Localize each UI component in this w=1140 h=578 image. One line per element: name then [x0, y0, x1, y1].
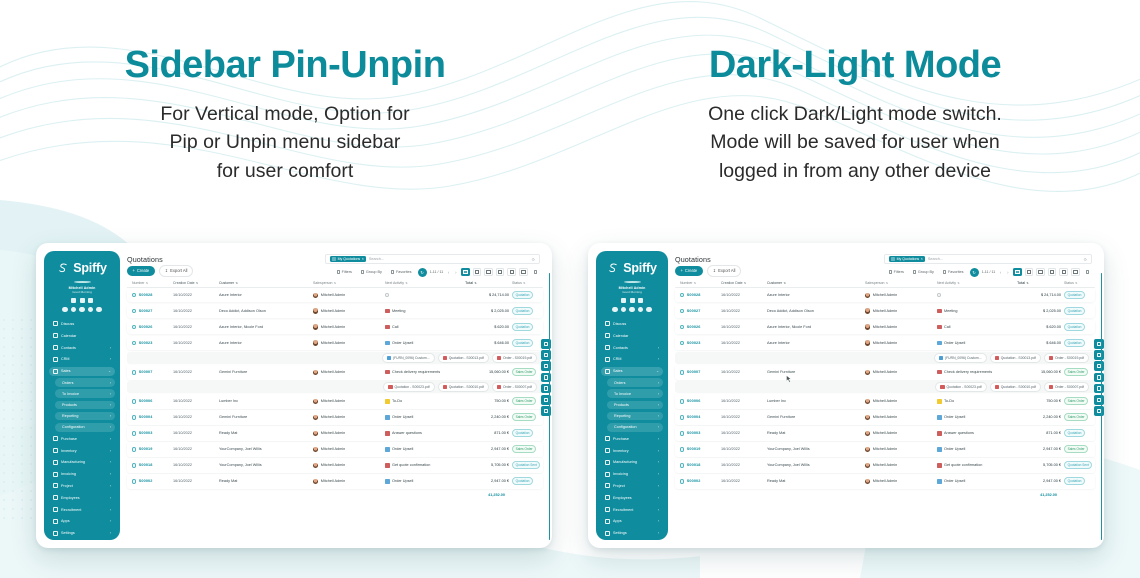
- star-icon: [943, 270, 946, 273]
- record-toggle-icon[interactable]: [680, 309, 684, 313]
- cell-number[interactable]: S00019: [127, 447, 173, 451]
- settings-button[interactable]: [1083, 269, 1092, 276]
- pivot-view-icon[interactable]: [1048, 268, 1057, 277]
- filters-button[interactable]: Filters: [334, 268, 355, 275]
- record-toggle-icon[interactable]: [132, 463, 136, 467]
- sidebar-item-to-invoice[interactable]: To Invoice›: [55, 389, 115, 398]
- group-by-label: Group By: [366, 270, 382, 274]
- search-bar[interactable]: My Quotations× Search... ⚙: [884, 254, 1092, 264]
- record-toggle-icon[interactable]: [680, 370, 684, 374]
- cell-number[interactable]: S00007: [127, 370, 173, 374]
- column-header-customer[interactable]: Customer⇅: [767, 281, 865, 285]
- refresh-button[interactable]: ↻: [418, 268, 427, 277]
- link-icon[interactable]: [612, 307, 617, 312]
- table-header: Number⇅ Creation Date⇅ Customer⇅ Salespe…: [127, 279, 543, 288]
- sort-icon: ⇅: [405, 281, 408, 285]
- record-number: S00026: [687, 325, 701, 329]
- kanban-view-icon[interactable]: [473, 268, 482, 277]
- settings-gear-icon[interactable]: [1094, 339, 1104, 349]
- sidebar-item-reporting[interactable]: Reporting›: [55, 412, 115, 421]
- cell-number[interactable]: S00004: [127, 415, 173, 419]
- sidebar-item-project[interactable]: Project›: [601, 481, 663, 490]
- attachment-chip[interactable]: Order - S00019.pdf: [492, 353, 537, 363]
- attachment-chip[interactable]: Quotation - S00010.pdf: [990, 382, 1041, 392]
- record-toggle-icon[interactable]: [132, 399, 136, 403]
- check-icon: [385, 370, 390, 374]
- table-row[interactable]: S00028 16/10/2022 Azure Interior Mitchel…: [127, 288, 543, 302]
- cell-number[interactable]: S00027: [675, 309, 721, 313]
- column-header-creation-date[interactable]: Creation Date⇅: [173, 281, 219, 285]
- record-toggle-icon[interactable]: [132, 447, 136, 451]
- cell-number[interactable]: S00028: [675, 293, 721, 297]
- column-header-status[interactable]: Status⇅: [509, 281, 543, 285]
- search-input[interactable]: Search...: [369, 257, 384, 261]
- table-row[interactable]: S00026 16/10/2022 Azure Interior, Nicole…: [127, 320, 543, 334]
- table-row[interactable]: S00023 16/10/2022 Azure Interior Mitchel…: [127, 336, 543, 350]
- home-icon[interactable]: [630, 298, 635, 303]
- sidebar-item-settings[interactable]: Settings›: [49, 528, 115, 537]
- sidebar-item-label: Settings: [61, 531, 107, 535]
- sidebar-item-discuss[interactable]: Discuss: [601, 319, 663, 328]
- table-row[interactable]: S00002 16/10/2022 Ready Mat Mitchell Adm…: [675, 474, 1095, 488]
- activity-view-icon[interactable]: [1071, 268, 1080, 277]
- sidebar-item-recruitment[interactable]: Recruitment›: [49, 505, 115, 514]
- activity-label: Check delivery requirements: [944, 370, 992, 374]
- cell-number[interactable]: S00023: [675, 341, 721, 345]
- activity-label: Order Upsell: [392, 415, 413, 419]
- table-row[interactable]: S00003 16/10/2022 Ready Mat Mitchell Adm…: [127, 426, 543, 440]
- gear-icon[interactable]: ⚙: [1083, 257, 1087, 262]
- salesperson-avatar: [865, 340, 870, 345]
- salesperson-avatar: [865, 293, 870, 298]
- cell-customer: Deco Addict, Addison Olson: [767, 309, 865, 313]
- flag-icon[interactable]: [79, 307, 84, 312]
- vertical-scrollbar[interactable]: [549, 273, 550, 540]
- cell-number[interactable]: S00018: [127, 463, 173, 467]
- lock-icon[interactable]: [88, 307, 93, 312]
- chevron-right-icon: ›: [658, 437, 659, 441]
- next-page-button[interactable]: ›: [454, 270, 458, 275]
- column-label: Next Activity: [385, 281, 404, 285]
- table-row[interactable]: S00027 16/10/2022 Deco Addict, Addison O…: [675, 304, 1095, 318]
- cell-total: 2,947.00 €: [465, 479, 509, 483]
- page-subtitle-right: One click Dark/Light mode switch. Mode w…: [570, 100, 1140, 186]
- attachment-chip[interactable]: Order - S00019.pdf: [1044, 353, 1089, 363]
- cell-number[interactable]: S00028: [127, 293, 173, 297]
- cell-customer: Gemini Furniture: [767, 415, 865, 419]
- calendar-view-icon[interactable]: [484, 268, 493, 277]
- activity-label: Order Upsell: [392, 447, 413, 451]
- plus-icon: +: [681, 268, 683, 273]
- refresh-button[interactable]: ↻: [970, 268, 979, 277]
- column-header-number[interactable]: Number⇅: [675, 281, 721, 285]
- activity-label: Order Upsell: [944, 447, 965, 451]
- gear-icon[interactable]: ⚙: [531, 257, 535, 262]
- sidebar-item-settings[interactable]: Settings›: [601, 528, 663, 537]
- cell-next-activity: Order Upsell: [937, 479, 1017, 483]
- sidebar-item-calendar[interactable]: Calendar: [601, 331, 663, 340]
- table-row[interactable]: S00027 16/10/2022 Deco Addict, Addison O…: [127, 304, 543, 318]
- close-icon[interactable]: ×: [362, 257, 364, 261]
- app-screenshot-left[interactable]: Spiffy Mitchell Admin Good Morning Discu…: [36, 243, 552, 548]
- sidebar-item-reporting[interactable]: Reporting›: [607, 412, 663, 421]
- sidebar-item-configuration[interactable]: Configuration›: [607, 423, 663, 432]
- cell-salesperson: Mitchell Admin: [865, 340, 937, 345]
- sidebar-item-purchase[interactable]: Purchase›: [601, 434, 663, 443]
- cell-creation-date: 16/10/2022: [721, 479, 767, 483]
- favorites-button[interactable]: Favorites: [940, 268, 967, 275]
- display-icon[interactable]: [1094, 406, 1104, 416]
- cell-number[interactable]: S00006: [127, 399, 173, 403]
- cell-next-activity: Answer questions: [937, 431, 1017, 435]
- palette-icon[interactable]: [1094, 373, 1104, 383]
- record-toggle-icon[interactable]: [680, 341, 684, 345]
- status-badge: Quotation Sent: [1064, 461, 1092, 469]
- record-toggle-icon[interactable]: [132, 370, 136, 374]
- salesperson-name: Mitchell Admin: [321, 415, 345, 419]
- table-row[interactable]: S00026 16/10/2022 Azure Interior, Nicole…: [675, 320, 1095, 334]
- table-row[interactable]: S00018 16/10/2022 YourCompany, Joel Will…: [675, 458, 1095, 472]
- attachment-chip[interactable]: Quotation - S00023.pdf: [383, 382, 434, 392]
- sidebar-item-invoicing[interactable]: Invoicing›: [601, 470, 663, 479]
- calendar-view-icon[interactable]: [1036, 268, 1045, 277]
- record-toggle-icon[interactable]: [680, 447, 684, 451]
- cell-creation-date: 16/10/2022: [173, 309, 219, 313]
- cell-customer: Deco Addict, Addison Olson: [219, 309, 313, 313]
- cell-next-activity: Order Upsell: [937, 447, 1017, 451]
- record-toggle-icon[interactable]: [680, 463, 684, 467]
- columns-icon[interactable]: [1094, 384, 1104, 394]
- cell-number[interactable]: S00004: [675, 415, 721, 419]
- cell-salesperson: Mitchell Admin: [865, 447, 937, 452]
- cell-number[interactable]: S00019: [675, 447, 721, 451]
- graph-view-icon[interactable]: [1059, 268, 1068, 277]
- cell-salesperson: Mitchell Admin: [865, 415, 937, 420]
- cell-number[interactable]: S00023: [127, 341, 173, 345]
- sidebar-item-products[interactable]: Products›: [55, 401, 115, 410]
- avatar[interactable]: [74, 281, 91, 283]
- confirm-icon: [937, 463, 942, 467]
- sidebar-item-invoicing[interactable]: Invoicing›: [49, 470, 115, 479]
- attachment-chip[interactable]: (FURN_0096) Custom...: [382, 353, 435, 363]
- link2-icon[interactable]: [71, 307, 76, 312]
- column-header-next-activity[interactable]: Next Activity⇅: [937, 281, 1017, 285]
- sidebar-item-employees[interactable]: Employees›: [49, 493, 115, 502]
- cell-salesperson: Mitchell Admin: [313, 293, 385, 298]
- group-by-button[interactable]: Group By: [358, 268, 385, 275]
- sidebar-item-contacts[interactable]: Contacts›: [601, 343, 663, 352]
- cell-number[interactable]: S00002: [675, 479, 721, 483]
- group-icon: [913, 270, 916, 273]
- favorites-button[interactable]: Favorites: [388, 268, 415, 275]
- attachment-chip[interactable]: Order - S00007.pdf: [492, 382, 537, 392]
- view-toolbar: Filters Group By Favorites ↻ 1-11 / 11 ‹…: [886, 268, 1092, 277]
- cell-creation-date: 16/10/2022: [721, 415, 767, 419]
- attachment-chip[interactable]: Quotation - S00010.pdf: [438, 382, 489, 392]
- settings-icon: [53, 531, 58, 536]
- next-page-button[interactable]: ›: [1006, 270, 1010, 275]
- record-toggle-icon[interactable]: [132, 431, 136, 435]
- settings-button[interactable]: [531, 269, 540, 276]
- cell-number[interactable]: S00007: [675, 370, 721, 374]
- column-header-salesperson[interactable]: Salesperson⇅: [313, 281, 385, 285]
- cell-number[interactable]: S00006: [675, 399, 721, 403]
- attachment-name: Order - S00007.pdf: [1055, 385, 1084, 389]
- status-badge: Quotation: [1064, 307, 1085, 315]
- record-toggle-icon[interactable]: [132, 293, 136, 297]
- table-row[interactable]: S00023 16/10/2022 Azure Interior Mitchel…: [675, 336, 1095, 350]
- record-number: S00002: [687, 479, 701, 483]
- cell-status: Quotation: [509, 307, 543, 315]
- column-header-salesperson[interactable]: Salesperson⇅: [865, 281, 937, 285]
- column-header-total[interactable]: Total⇅: [465, 281, 509, 285]
- cell-number[interactable]: S00003: [127, 431, 173, 435]
- table-row[interactable]: S00028 16/10/2022 Azure Interior Mitchel…: [675, 288, 1095, 302]
- chevron-right-icon: ›: [658, 449, 659, 453]
- activity-label: Order Upsell: [392, 479, 413, 483]
- sidebar-item-configuration[interactable]: Configuration›: [55, 423, 115, 432]
- record-toggle-icon[interactable]: [680, 399, 684, 403]
- chevron-right-icon: ›: [110, 496, 111, 500]
- search-facet-my-quotations[interactable]: My Quotations×: [330, 256, 366, 263]
- chevron-right-icon: ›: [110, 519, 111, 523]
- sidebar-item-inventory[interactable]: Inventory›: [49, 446, 115, 455]
- main-panel: Quotations +Create ↧Export All My Quotat…: [120, 251, 546, 540]
- theme-icon[interactable]: [1094, 350, 1104, 360]
- cell-total: $ 620.00: [465, 325, 509, 329]
- link-icon[interactable]: [62, 307, 67, 312]
- search-input[interactable]: Search...: [928, 257, 943, 261]
- attachment-name: (FURN_0096) Custom...: [945, 356, 982, 360]
- pin-icon[interactable]: [646, 307, 651, 312]
- cell-number[interactable]: S00003: [675, 431, 721, 435]
- employees-icon: [53, 495, 58, 500]
- record-toggle-icon[interactable]: [132, 325, 136, 329]
- cell-total: 750.00 €: [465, 399, 509, 403]
- record-number: S00007: [687, 370, 701, 374]
- salesperson-name: Mitchell Admin: [321, 399, 345, 403]
- sidebar-item-discuss[interactable]: Discuss: [49, 319, 115, 328]
- sidebar-item-crm[interactable]: CRM›: [49, 355, 115, 364]
- user-name: Mitchell Admin: [49, 286, 115, 290]
- quick-actions-row-1: [49, 298, 115, 303]
- file-icon: [497, 385, 501, 389]
- column-header-total[interactable]: Total⇅: [1017, 281, 1061, 285]
- column-header-customer[interactable]: Customer⇅: [219, 281, 313, 285]
- invoicing-icon: [605, 472, 610, 477]
- cell-status: Sales Order: [1061, 413, 1095, 421]
- chevron-down-icon: ⌄: [108, 369, 111, 373]
- column-label: Salesperson: [865, 281, 884, 285]
- sidebar-item-orders[interactable]: Orders›: [607, 378, 663, 387]
- column-label: Status: [512, 281, 522, 285]
- record-toggle-icon[interactable]: [132, 479, 136, 483]
- cell-number[interactable]: S00026: [127, 325, 173, 329]
- chevron-right-icon: ›: [658, 392, 659, 396]
- app-screenshot-right[interactable]: Spiffy Mitchell Admin Good Morning Discu…: [588, 243, 1104, 548]
- column-header-number[interactable]: Number⇅: [127, 281, 173, 285]
- prev-page-button[interactable]: ‹: [446, 270, 450, 275]
- table-row[interactable]: S00007 16/10/2022 Gemini Furniture Mitch…: [675, 365, 1095, 379]
- sidebar-item-label: Invoicing: [61, 472, 107, 476]
- sidebar-item-purchase[interactable]: Purchase›: [49, 434, 115, 443]
- sidebar: Spiffy Mitchell Admin Good Morning Discu…: [596, 251, 668, 540]
- table-row[interactable]: S00006 16/10/2022 Lumber Inc Mitchell Ad…: [675, 394, 1095, 408]
- phone-icon[interactable]: [71, 298, 76, 303]
- cell-status: Quotation: [1061, 339, 1095, 347]
- record-toggle-icon[interactable]: [680, 415, 684, 419]
- invoicing-icon: [53, 472, 58, 477]
- column-header-creation-date[interactable]: Creation Date⇅: [721, 281, 767, 285]
- cell-number[interactable]: S00002: [127, 479, 173, 483]
- clock-icon: [937, 293, 941, 297]
- sidebar-item-recruitment[interactable]: Recruitment›: [601, 505, 663, 514]
- brand-logo[interactable]: Spiffy: [601, 261, 663, 275]
- sidebar-item-label: Reporting: [611, 414, 655, 418]
- salesperson-avatar: [313, 370, 318, 375]
- brand-logo[interactable]: Spiffy: [49, 261, 115, 275]
- column-header-status[interactable]: Status⇅: [1061, 281, 1095, 285]
- activity-label: Answer questions: [392, 431, 422, 435]
- sidebar-item-manufacturing[interactable]: Manufacturing›: [49, 458, 115, 467]
- attachment-name: Quotation - S00013.pdf: [449, 356, 484, 360]
- pin-icon[interactable]: [96, 307, 101, 312]
- chevron-right-icon: ›: [658, 414, 659, 418]
- chevron-right-icon: ›: [658, 531, 659, 535]
- sidebar-item-manufacturing[interactable]: Manufacturing›: [601, 458, 663, 467]
- cell-next-activity: Order Upsell: [385, 415, 465, 419]
- salesperson-name: Mitchell Admin: [321, 309, 345, 313]
- cell-number[interactable]: S00026: [675, 325, 721, 329]
- table-row[interactable]: S00007 16/10/2022 Gemini Furniture Mitch…: [127, 365, 543, 379]
- export-all-button[interactable]: ↧Export All: [159, 265, 194, 277]
- cell-next-activity: To-Do: [937, 399, 1017, 403]
- record-toggle-icon[interactable]: [680, 479, 684, 483]
- table-row[interactable]: S00004 16/10/2022 Gemini Furniture Mitch…: [127, 410, 543, 424]
- sidebar-item-orders[interactable]: Orders›: [55, 378, 115, 387]
- attachment-chip[interactable]: Order - S00007.pdf: [1044, 382, 1089, 392]
- attachment-name: (FURN_0096) Custom...: [393, 356, 430, 360]
- activity-view-icon[interactable]: [519, 268, 528, 277]
- filters-button[interactable]: Filters: [886, 268, 907, 275]
- table-row[interactable]: S00018 16/10/2022 YourCompany, Joel Will…: [127, 458, 543, 472]
- sidebar-item-sales[interactable]: Sales⌄: [601, 367, 663, 376]
- table-row[interactable]: S00004 16/10/2022 Gemini Furniture Mitch…: [675, 410, 1095, 424]
- avatar[interactable]: [624, 281, 641, 283]
- cell-number[interactable]: S00018: [675, 463, 721, 467]
- sort-icon: ⇅: [744, 281, 747, 285]
- record-toggle-icon[interactable]: [132, 415, 136, 419]
- record-toggle-icon[interactable]: [132, 341, 136, 345]
- sidebar-item-to-invoice[interactable]: To Invoice›: [607, 389, 663, 398]
- grid-icon[interactable]: [638, 298, 643, 303]
- grid-icon[interactable]: [88, 298, 93, 303]
- cell-total: 750.00 €: [1017, 399, 1061, 403]
- manufacturing-icon: [53, 460, 58, 465]
- flag-icon[interactable]: [629, 307, 634, 312]
- sidebar-item-calendar[interactable]: Calendar: [49, 331, 115, 340]
- sidebar-item-label: To Invoice: [611, 392, 655, 396]
- record-number: S00023: [139, 341, 153, 345]
- attachment-row: Quotation - S00023.pdf Quotation - S0001…: [127, 381, 543, 393]
- sidebar-item-apps[interactable]: Apps›: [49, 517, 115, 526]
- search-facet-my-quotations[interactable]: My Quotations×: [889, 256, 925, 263]
- attachment-name: Order - S00019.pdf: [1055, 356, 1084, 360]
- link2-icon[interactable]: [621, 307, 626, 312]
- list-view-icon[interactable]: [461, 268, 470, 277]
- table-row[interactable]: S00019 16/10/2022 YourCompany, Joel Will…: [675, 442, 1095, 456]
- table-row[interactable]: S00006 16/10/2022 Lumber Inc Mitchell Ad…: [127, 394, 543, 408]
- sidebar-item-label: Configuration: [611, 425, 655, 429]
- sidebar-item-crm[interactable]: CRM›: [601, 355, 663, 364]
- record-toggle-icon[interactable]: [680, 325, 684, 329]
- sidebar-item-label: Products: [611, 403, 655, 407]
- attachment-chip[interactable]: Quotation - S00023.pdf: [935, 382, 986, 392]
- cell-next-activity: Meeting: [937, 309, 1017, 313]
- table-row[interactable]: S00019 16/10/2022 YourCompany, Joel Will…: [127, 442, 543, 456]
- export-all-button[interactable]: ↧Export All: [707, 265, 742, 277]
- attachment-chip[interactable]: Quotation - S00013.pdf: [990, 353, 1041, 363]
- list-view-icon[interactable]: [1013, 268, 1022, 277]
- salesperson-name: Mitchell Admin: [321, 479, 345, 483]
- sidebar-item-label: Calendar: [61, 334, 111, 338]
- sidebar-item-contacts[interactable]: Contacts›: [49, 343, 115, 352]
- sidebar-item-products[interactable]: Products›: [607, 401, 663, 410]
- column-header-next-activity[interactable]: Next Activity⇅: [385, 281, 465, 285]
- table-row[interactable]: S00002 16/10/2022 Ready Mat Mitchell Adm…: [127, 474, 543, 488]
- create-button[interactable]: +Create: [675, 266, 703, 276]
- cell-next-activity: Call: [385, 325, 465, 329]
- plus-icon: +: [133, 268, 135, 273]
- layout-icon[interactable]: [1094, 361, 1104, 371]
- lock-icon[interactable]: [638, 307, 643, 312]
- record-toggle-icon[interactable]: [680, 431, 684, 435]
- kanban-view-icon[interactable]: [1025, 268, 1034, 277]
- upsell-icon: [385, 479, 390, 483]
- sort-icon: ⇅: [523, 281, 526, 285]
- table-row[interactable]: S00003 16/10/2022 Ready Mat Mitchell Adm…: [675, 426, 1095, 440]
- prev-page-button[interactable]: ‹: [998, 270, 1002, 275]
- upsell-icon: [385, 341, 390, 345]
- create-button[interactable]: +Create: [127, 266, 155, 276]
- pivot-view-icon[interactable]: [496, 268, 505, 277]
- phone-icon[interactable]: [621, 298, 626, 303]
- vertical-scrollbar[interactable]: [1101, 273, 1102, 540]
- group-by-button[interactable]: Group By: [910, 268, 937, 275]
- view-toolbar: Filters Group By Favorites ↻ 1-11 / 11 ‹…: [334, 268, 540, 277]
- record-toggle-icon[interactable]: [132, 309, 136, 313]
- attachment-chip[interactable]: Quotation - S00013.pdf: [438, 353, 489, 363]
- activity-label: Meeting: [392, 309, 406, 313]
- record-number: S00019: [687, 447, 701, 451]
- cell-number[interactable]: S00027: [127, 309, 173, 313]
- sidebar-icon[interactable]: [1094, 395, 1104, 405]
- attachment-chip[interactable]: (FURN_0096) Custom...: [934, 353, 987, 363]
- graph-view-icon[interactable]: [507, 268, 516, 277]
- salesperson-avatar: [865, 447, 870, 452]
- sidebar-item-employees[interactable]: Employees›: [601, 493, 663, 502]
- upsell-icon: [385, 447, 390, 451]
- sidebar-item-apps[interactable]: Apps›: [601, 517, 663, 526]
- cell-customer: Azure Interior: [767, 293, 865, 297]
- home-icon[interactable]: [80, 298, 85, 303]
- sidebar-item-inventory[interactable]: Inventory›: [601, 446, 663, 455]
- sidebar-item-project[interactable]: Project›: [49, 481, 115, 490]
- search-bar[interactable]: My Quotations× Search... ⚙: [325, 254, 540, 264]
- record-toggle-icon[interactable]: [680, 293, 684, 297]
- sidebar-item-sales[interactable]: Sales⌄: [49, 367, 115, 376]
- close-icon[interactable]: ×: [921, 257, 923, 261]
